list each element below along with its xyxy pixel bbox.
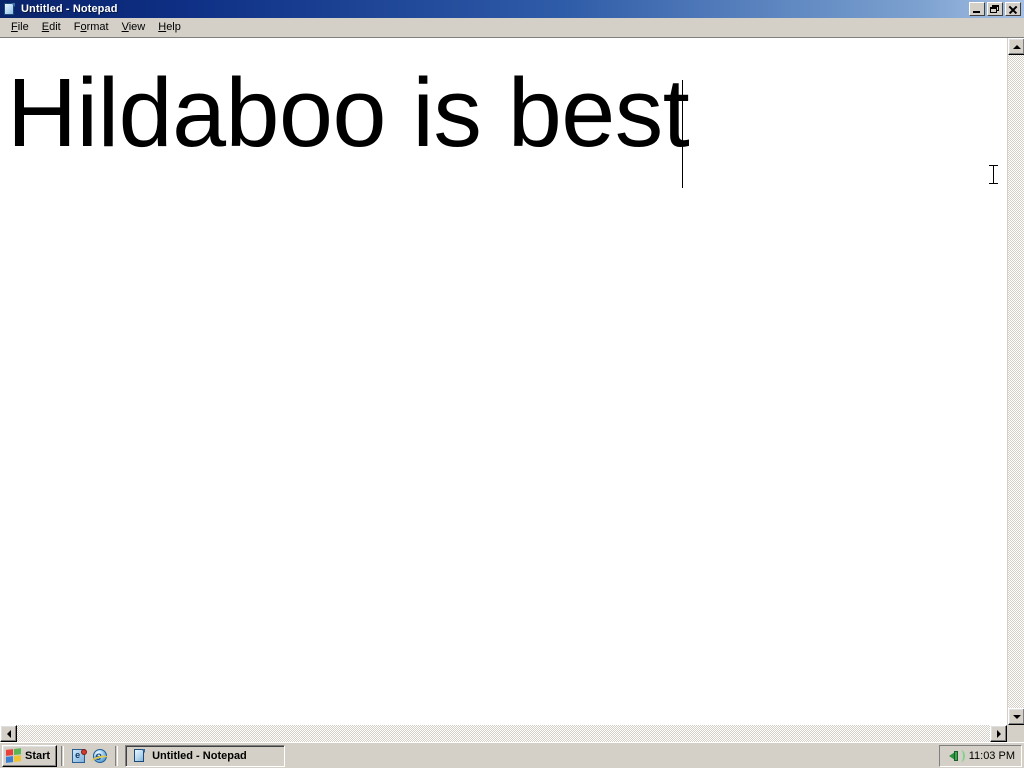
scroll-right-arrow[interactable]	[990, 725, 1007, 742]
task-button-area: Untitled - Notepad	[122, 745, 936, 767]
window-titlebar[interactable]: Untitled - Notepad	[0, 0, 1024, 18]
system-tray: 11:03 PM	[939, 745, 1022, 767]
windows-flag-icon	[6, 748, 22, 764]
window-client-area: Hildaboo is best	[0, 37, 1024, 742]
editor-row: Hildaboo is best	[0, 38, 1024, 725]
window-controls	[969, 2, 1023, 16]
notepad-icon	[2, 2, 17, 16]
show-desktop-icon[interactable]: e	[71, 748, 87, 764]
menu-item-format[interactable]: Format	[68, 19, 116, 35]
menu-item-help[interactable]: Help	[152, 19, 188, 35]
vertical-scroll-track[interactable]	[1008, 55, 1024, 708]
mouse-cursor-ibeam	[989, 165, 998, 184]
document-text: Hildaboo is best	[7, 64, 689, 161]
horizontal-scrollbar-row	[0, 725, 1024, 742]
screen: Untitled - Notepad File Edit Format View…	[0, 0, 1024, 768]
menu-item-view[interactable]: View	[116, 19, 153, 35]
start-button-label: Start	[25, 750, 50, 762]
text-caret	[682, 80, 683, 188]
scroll-up-arrow[interactable]	[1008, 38, 1024, 55]
close-button[interactable]	[1005, 2, 1021, 16]
taskbar-clock[interactable]: 11:03 PM	[969, 750, 1015, 762]
horizontal-scrollbar[interactable]	[0, 725, 1007, 742]
minimize-button[interactable]	[969, 2, 985, 16]
scroll-left-arrow[interactable]	[0, 725, 17, 742]
scrollbar-corner	[1007, 725, 1024, 742]
window-title: Untitled - Notepad	[21, 3, 969, 15]
notepad-icon-small	[132, 749, 147, 763]
taskbar-separator	[61, 746, 64, 766]
horizontal-scroll-track[interactable]	[17, 725, 990, 742]
volume-icon[interactable]	[947, 748, 963, 764]
menu-item-edit[interactable]: Edit	[36, 19, 68, 35]
scroll-down-arrow[interactable]	[1008, 708, 1024, 725]
task-button-label: Untitled - Notepad	[152, 750, 247, 762]
start-button[interactable]: Start	[2, 745, 57, 767]
task-button-notepad[interactable]: Untitled - Notepad	[125, 745, 285, 767]
restore-button[interactable]	[987, 2, 1003, 16]
text-editor[interactable]: Hildaboo is best	[0, 38, 1007, 725]
vertical-scrollbar[interactable]	[1007, 38, 1024, 725]
internet-explorer-icon[interactable]: e	[92, 748, 108, 764]
notepad-window: Untitled - Notepad File Edit Format View…	[0, 0, 1024, 742]
taskbar-separator-2	[115, 746, 118, 766]
taskbar: Start e e Untitled - Notepad 11	[0, 742, 1024, 768]
quick-launch-bar: e e	[68, 748, 111, 764]
menu-item-file[interactable]: File	[5, 19, 36, 35]
menu-bar: File Edit Format View Help	[0, 18, 1024, 37]
